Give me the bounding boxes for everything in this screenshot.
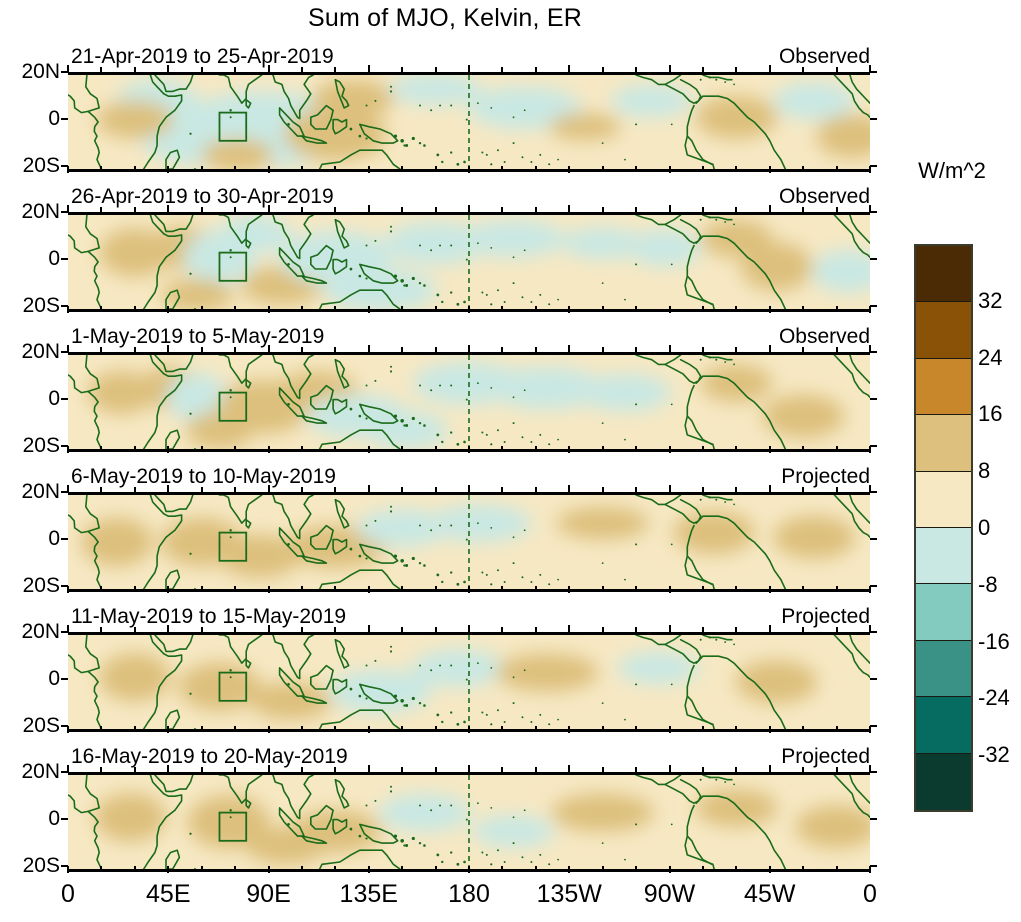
y-tick-mark — [870, 678, 877, 680]
x-tick-mark — [869, 726, 871, 733]
x-tick-mark — [735, 767, 737, 772]
x-tick-mark — [234, 487, 236, 492]
y-tick-mark — [870, 538, 877, 540]
x-tick-mark — [167, 205, 169, 212]
x-tick-mark — [769, 65, 771, 72]
x-tick-mark — [468, 65, 470, 72]
x-tick-mark — [802, 166, 804, 171]
x-tick-mark — [368, 625, 370, 632]
y-tick-mark — [870, 305, 877, 307]
x-tick-mark — [535, 446, 537, 451]
x-tick-mark — [468, 345, 470, 352]
x-tick-mark — [334, 726, 336, 731]
x-tick-mark — [435, 627, 437, 632]
y-tick-mark — [870, 211, 877, 213]
y-tick-mark — [870, 865, 877, 867]
contour-band — [289, 810, 381, 853]
x-tick-mark — [735, 726, 737, 731]
contour-band — [429, 504, 531, 542]
x-tick-mark — [100, 627, 102, 632]
y-tick-mark — [870, 631, 877, 633]
x-tick-mark — [100, 306, 102, 311]
x-tick-mark — [268, 345, 270, 352]
colorbar-tick-label: 32 — [978, 288, 1002, 314]
x-tick-mark — [301, 306, 303, 311]
panel-date-range: 21-Apr-2019 to 25-Apr-2019 — [71, 45, 334, 69]
x-tick-mark — [167, 166, 169, 173]
x-tick-label: 135E — [340, 880, 398, 909]
x-tick-mark — [201, 67, 203, 72]
contour-band — [629, 229, 701, 267]
map-area — [68, 72, 870, 172]
x-tick-mark — [635, 586, 637, 591]
x-tick-mark — [635, 67, 637, 72]
y-tick-label: 20S — [23, 435, 60, 456]
x-tick-mark — [635, 166, 637, 171]
x-tick-mark — [568, 726, 570, 733]
x-tick-mark — [802, 446, 804, 451]
x-tick-mark — [602, 347, 604, 352]
x-tick-mark — [535, 487, 537, 492]
x-tick-label: 45W — [744, 880, 795, 909]
x-tick-mark — [67, 65, 69, 72]
x-tick-mark — [234, 166, 236, 171]
colorbar-tick-label: 0 — [978, 515, 990, 541]
x-tick-mark — [836, 487, 838, 492]
x-tick-mark — [869, 205, 871, 212]
x-tick-mark — [435, 347, 437, 352]
x-tick-mark — [334, 207, 336, 212]
anomaly-field — [68, 215, 870, 309]
x-tick-mark — [401, 627, 403, 632]
x-tick-mark — [100, 726, 102, 731]
y-axis-labels: 20N020S — [0, 72, 66, 166]
x-tick-mark — [268, 586, 270, 593]
x-tick-mark — [268, 765, 270, 772]
x-tick-label: 0 — [863, 880, 877, 909]
colorbar-band — [916, 584, 971, 640]
x-tick-mark — [134, 306, 136, 311]
contour-band — [81, 518, 153, 567]
x-tick-mark — [100, 487, 102, 492]
map-panel: 1-May-2019 to 5-May-2019Observed20N020S — [68, 352, 870, 446]
colorbar-tick-label: -8 — [978, 572, 998, 598]
x-tick-mark — [368, 345, 370, 352]
x-tick-mark — [67, 205, 69, 212]
x-tick-mark — [501, 306, 503, 311]
x-tick-mark — [435, 586, 437, 591]
y-tick-mark — [61, 818, 68, 820]
x-tick-mark — [535, 207, 537, 212]
x-tick-mark — [802, 627, 804, 632]
x-tick-mark — [869, 65, 871, 72]
x-tick-mark — [435, 306, 437, 311]
x-tick-mark — [836, 347, 838, 352]
x-tick-mark — [67, 345, 69, 352]
map-area — [68, 632, 870, 732]
x-tick-mark — [334, 487, 336, 492]
contour-band — [741, 242, 813, 291]
x-tick-mark — [769, 205, 771, 212]
colorbar-tick-label: -32 — [978, 742, 1010, 768]
x-tick-mark — [401, 446, 403, 451]
panel-status-label: Projected — [781, 745, 870, 769]
x-tick-mark — [100, 767, 102, 772]
x-tick-mark — [334, 347, 336, 352]
x-tick-mark — [735, 306, 737, 311]
x-tick-mark — [234, 306, 236, 311]
x-tick-mark — [368, 205, 370, 212]
map-area — [68, 212, 870, 312]
x-tick-mark — [602, 166, 604, 171]
y-tick-label: 20N — [21, 621, 60, 642]
anomaly-field — [68, 495, 870, 589]
x-tick-mark — [635, 627, 637, 632]
x-tick-mark — [735, 627, 737, 632]
x-tick-mark — [501, 207, 503, 212]
x-tick-mark — [268, 65, 270, 72]
x-tick-mark — [568, 485, 570, 492]
x-tick-mark — [468, 166, 470, 173]
contour-band — [611, 85, 693, 117]
x-tick-mark — [201, 586, 203, 591]
x-tick-mark — [301, 207, 303, 212]
x-tick-mark — [134, 207, 136, 212]
y-axis-labels: 20N020S — [0, 212, 66, 306]
colorbar-tick-label: -24 — [978, 685, 1010, 711]
x-tick-mark — [67, 306, 69, 313]
y-tick-label: 0 — [48, 668, 60, 689]
x-tick-mark — [635, 306, 637, 311]
x-tick-mark — [134, 627, 136, 632]
x-tick-mark — [468, 306, 470, 313]
x-tick-mark — [568, 625, 570, 632]
x-tick-mark — [602, 67, 604, 72]
x-tick-mark — [535, 726, 537, 731]
x-tick-mark — [301, 347, 303, 352]
x-tick-mark — [468, 726, 470, 733]
x-tick-mark — [635, 207, 637, 212]
x-tick-mark — [368, 726, 370, 733]
x-tick-mark — [836, 67, 838, 72]
x-tick-label: 90W — [644, 880, 695, 909]
x-tick-mark — [735, 67, 737, 72]
contour-band — [695, 789, 777, 827]
x-tick-mark — [234, 207, 236, 212]
x-tick-mark — [435, 207, 437, 212]
panel-status-label: Projected — [781, 605, 870, 629]
x-tick-mark — [134, 347, 136, 352]
contour-band — [496, 654, 598, 692]
y-tick-label: 20S — [23, 715, 60, 736]
x-tick-mark — [535, 306, 537, 311]
x-tick-mark — [769, 446, 771, 453]
x-tick-mark — [368, 485, 370, 492]
x-tick-mark — [769, 485, 771, 492]
colorbar — [914, 244, 973, 812]
map-area — [68, 352, 870, 452]
contour-band — [579, 374, 671, 412]
x-tick-mark — [602, 446, 604, 451]
y-tick-label: 0 — [48, 248, 60, 269]
contour-band — [412, 649, 504, 687]
x-tick-mark — [201, 166, 203, 171]
colorbar-band — [916, 641, 971, 697]
x-tick-mark — [201, 767, 203, 772]
x-tick-mark — [268, 306, 270, 313]
x-tick-mark — [201, 446, 203, 451]
x-tick-mark — [669, 485, 671, 492]
x-tick-mark — [735, 347, 737, 352]
colorbar-band — [916, 754, 971, 810]
x-tick-mark — [268, 446, 270, 453]
colorbar-band — [916, 472, 971, 528]
x-tick-mark — [602, 306, 604, 311]
x-tick-mark — [167, 726, 169, 733]
x-tick-mark — [401, 487, 403, 492]
x-tick-mark — [100, 347, 102, 352]
x-tick-mark — [869, 166, 871, 173]
x-tick-mark — [234, 627, 236, 632]
x-tick-mark — [702, 627, 704, 632]
x-tick-mark — [635, 347, 637, 352]
contour-band — [312, 80, 394, 118]
colorbar-tick-label: 8 — [978, 458, 990, 484]
x-tick-mark — [167, 625, 169, 632]
x-tick-mark — [836, 586, 838, 591]
x-tick-mark — [201, 487, 203, 492]
x-tick-mark — [234, 586, 236, 591]
colorbar-band — [916, 359, 971, 415]
x-tick-mark — [234, 446, 236, 451]
y-tick-label: 20N — [21, 481, 60, 502]
x-tick-mark — [702, 67, 704, 72]
x-tick-mark — [268, 166, 270, 173]
x-tick-mark — [602, 586, 604, 591]
panel-date-range: 1-May-2019 to 5-May-2019 — [71, 325, 324, 349]
x-tick-mark — [669, 765, 671, 772]
x-tick-mark — [234, 347, 236, 352]
contour-band — [95, 793, 167, 842]
x-tick-mark — [201, 627, 203, 632]
x-tick-mark — [401, 306, 403, 311]
map-panel: 16-May-2019 to 20-May-2019Projected20N02… — [68, 772, 870, 866]
x-tick-mark — [167, 446, 169, 453]
x-tick-mark — [802, 726, 804, 731]
x-tick-mark — [401, 67, 403, 72]
x-tick-mark — [568, 65, 570, 72]
x-tick-mark — [134, 726, 136, 731]
x-axis: 045E90E135E180135W90W45W0 — [68, 870, 870, 910]
x-tick-mark — [501, 347, 503, 352]
x-tick-mark — [401, 347, 403, 352]
x-tick-mark — [802, 487, 804, 492]
map-panel: 6-May-2019 to 10-May-2019Projected20N020… — [68, 492, 870, 586]
x-tick-mark — [669, 446, 671, 453]
x-tick-mark — [702, 166, 704, 171]
y-tick-mark — [870, 491, 877, 493]
x-tick-label: 135W — [537, 880, 602, 909]
colorbar-band — [916, 415, 971, 471]
x-tick-mark — [735, 446, 737, 451]
x-tick-mark — [268, 485, 270, 492]
x-tick-mark — [435, 166, 437, 171]
contour-band — [557, 507, 649, 539]
x-tick-mark — [635, 767, 637, 772]
x-tick-mark — [769, 765, 771, 772]
x-tick-mark — [669, 205, 671, 212]
panel-date-range: 26-Apr-2019 to 30-Apr-2019 — [71, 185, 334, 209]
y-tick-label: 20N — [21, 761, 60, 782]
x-tick-mark — [100, 166, 102, 171]
x-tick-mark — [301, 446, 303, 451]
x-tick-mark — [769, 166, 771, 173]
map-panel: 11-May-2019 to 15-May-2019Projected20N02… — [68, 632, 870, 726]
contour-band — [549, 113, 621, 140]
panel-status-label: Projected — [781, 465, 870, 489]
x-tick-label: 0 — [61, 880, 75, 909]
y-tick-mark — [870, 165, 877, 167]
y-tick-label: 0 — [48, 808, 60, 829]
y-axis-labels: 20N020S — [0, 632, 66, 726]
x-tick-mark — [435, 446, 437, 451]
x-tick-mark — [869, 345, 871, 352]
x-tick-mark — [669, 65, 671, 72]
x-tick-mark — [702, 487, 704, 492]
anomaly-field — [68, 635, 870, 729]
panel-date-range: 6-May-2019 to 10-May-2019 — [71, 465, 336, 489]
x-tick-mark — [769, 726, 771, 733]
anomaly-field — [68, 775, 870, 869]
figure-canvas: Sum of MJO, Kelvin, ER 21-Apr-2019 to 25… — [0, 0, 1021, 922]
x-tick-mark — [201, 207, 203, 212]
x-tick-mark — [134, 446, 136, 451]
x-tick-mark — [201, 726, 203, 731]
x-tick-mark — [568, 166, 570, 173]
contour-band — [96, 101, 173, 139]
x-tick-mark — [501, 726, 503, 731]
anomaly-field — [68, 75, 870, 169]
x-tick-mark — [100, 586, 102, 591]
x-tick-mark — [602, 767, 604, 772]
x-tick-mark — [100, 446, 102, 451]
anomaly-field — [68, 355, 870, 449]
x-tick-mark — [568, 205, 570, 212]
x-tick-mark — [301, 767, 303, 772]
y-tick-label: 20S — [23, 575, 60, 596]
x-tick-mark — [67, 625, 69, 632]
x-tick-mark — [435, 767, 437, 772]
x-tick-mark — [769, 306, 771, 313]
figure-title: Sum of MJO, Kelvin, ER — [0, 4, 890, 33]
x-tick-mark — [501, 166, 503, 171]
x-tick-mark — [869, 306, 871, 313]
y-axis-labels: 20N020S — [0, 772, 66, 866]
x-tick-mark — [401, 726, 403, 731]
y-tick-mark — [61, 398, 68, 400]
x-tick-mark — [435, 67, 437, 72]
x-tick-mark — [234, 767, 236, 772]
x-tick-mark — [201, 347, 203, 352]
y-tick-mark — [61, 258, 68, 260]
x-tick-mark — [735, 207, 737, 212]
panel-status-label: Observed — [779, 45, 870, 69]
x-tick-mark — [435, 487, 437, 492]
y-axis-labels: 20N020S — [0, 492, 66, 586]
x-tick-mark — [702, 767, 704, 772]
x-tick-mark — [869, 765, 871, 772]
x-tick-mark — [501, 67, 503, 72]
x-tick-mark — [167, 65, 169, 72]
x-tick-mark — [368, 166, 370, 173]
x-tick-mark — [268, 726, 270, 733]
x-tick-mark — [568, 586, 570, 593]
x-tick-mark — [468, 205, 470, 212]
y-tick-mark — [870, 771, 877, 773]
x-tick-mark — [735, 166, 737, 171]
x-tick-mark — [468, 586, 470, 593]
x-tick-mark — [468, 625, 470, 632]
x-tick-mark — [401, 166, 403, 171]
panel-status-label: Observed — [779, 185, 870, 209]
x-tick-mark — [468, 765, 470, 772]
x-tick-mark — [635, 726, 637, 731]
y-tick-mark — [870, 398, 877, 400]
x-tick-mark — [535, 586, 537, 591]
contour-band — [700, 364, 772, 402]
x-tick-mark — [669, 306, 671, 313]
x-tick-mark — [301, 586, 303, 591]
y-tick-label: 20S — [23, 295, 60, 316]
x-tick-mark — [401, 586, 403, 591]
y-tick-label: 20S — [23, 155, 60, 176]
x-tick-mark — [535, 627, 537, 632]
x-tick-mark — [167, 345, 169, 352]
colorbar-tick-label: 24 — [978, 345, 1002, 371]
x-tick-mark — [802, 767, 804, 772]
colorbar-tick-label: -16 — [978, 629, 1010, 655]
x-tick-mark — [401, 207, 403, 212]
x-tick-mark — [769, 345, 771, 352]
x-tick-mark — [368, 586, 370, 593]
x-tick-mark — [602, 726, 604, 731]
x-tick-mark — [635, 446, 637, 451]
x-tick-mark — [836, 446, 838, 451]
x-tick-mark — [769, 586, 771, 593]
x-tick-mark — [501, 446, 503, 451]
x-tick-mark — [802, 347, 804, 352]
x-tick-mark — [268, 205, 270, 212]
y-tick-mark — [870, 71, 877, 73]
x-tick-mark — [334, 166, 336, 171]
x-tick-mark — [869, 485, 871, 492]
x-tick-mark — [301, 726, 303, 731]
x-tick-mark — [535, 767, 537, 772]
x-tick-mark — [836, 767, 838, 772]
panel-date-range: 16-May-2019 to 20-May-2019 — [71, 745, 348, 769]
map-area — [68, 492, 870, 592]
y-tick-mark — [870, 258, 877, 260]
x-tick-mark — [501, 487, 503, 492]
colorbar-band — [916, 528, 971, 584]
y-tick-mark — [870, 818, 877, 820]
x-tick-mark — [67, 765, 69, 772]
x-tick-mark — [301, 166, 303, 171]
contour-band — [99, 653, 171, 702]
x-tick-mark — [167, 765, 169, 772]
x-tick-mark — [301, 67, 303, 72]
x-tick-mark — [334, 627, 336, 632]
